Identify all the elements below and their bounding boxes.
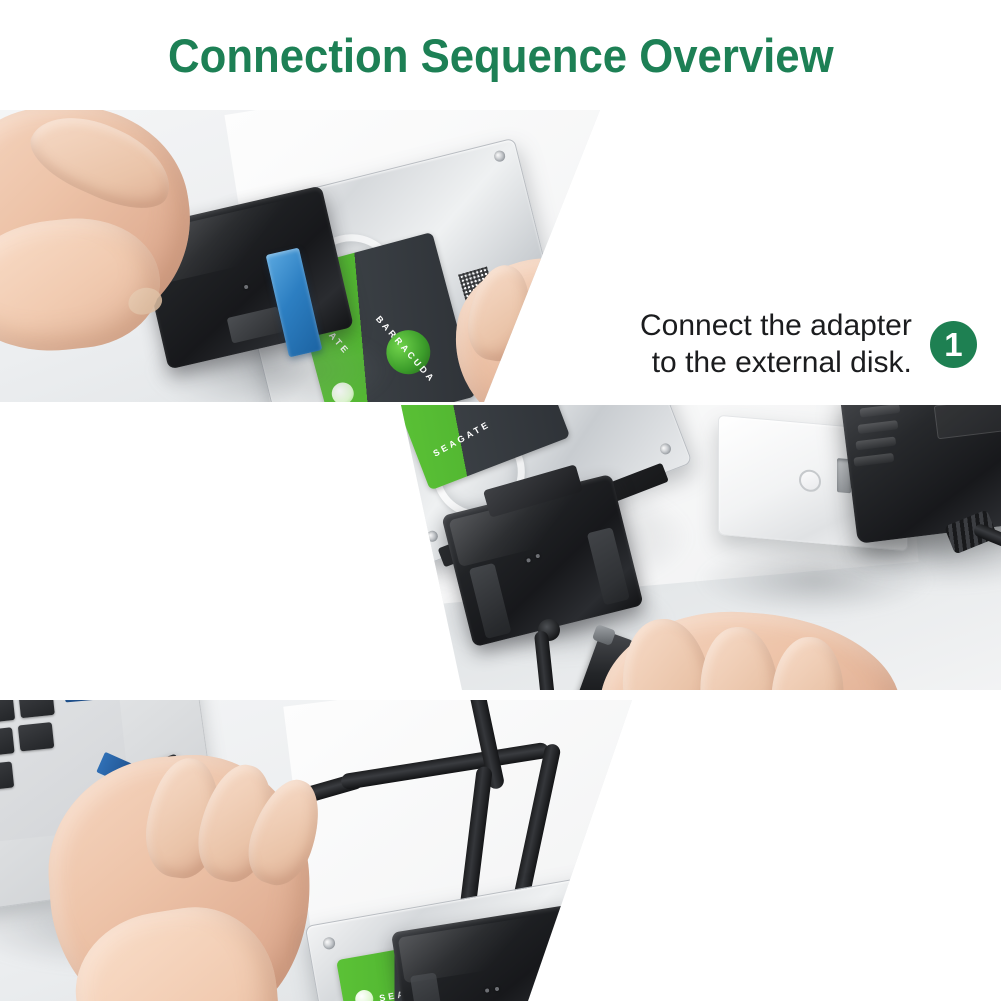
- step-1-line-1: Connect the adapter: [640, 308, 912, 345]
- hub-power-button[interactable]: [799, 469, 821, 493]
- step-1-instruction: Connect the adapter to the external disk…: [640, 308, 977, 381]
- adapter-side-facet: [227, 306, 284, 343]
- brick-fin: [855, 437, 896, 451]
- adapter-side-facet: [469, 563, 512, 639]
- brick-fin: [853, 453, 894, 467]
- photo-step-2: SEAGATE: [0, 405, 1001, 690]
- brick-label-plate: [934, 405, 1001, 439]
- hdd-brand-text: SEAGATE: [431, 419, 492, 459]
- keyboard-key[interactable]: [18, 700, 55, 718]
- keyboard-key[interactable]: [0, 727, 15, 756]
- hdd-screw: [658, 442, 672, 456]
- seagate-logo-icon: [354, 989, 375, 1001]
- title-bar: Connection Sequence Overview: [0, 0, 1001, 110]
- step-1-line-2: to the external disk.: [640, 345, 912, 382]
- step-1-number-badge: 1: [930, 321, 977, 368]
- adapter-led-indicator: [485, 988, 490, 993]
- adapter-led-indicator-2: [495, 987, 500, 992]
- hdd-screw: [322, 936, 336, 950]
- keyboard-key[interactable]: [0, 761, 14, 790]
- adapter-led-indicator: [526, 558, 531, 563]
- adapter-led-indicator-2: [535, 554, 540, 559]
- step-1-text: Connect the adapter to the external disk…: [640, 308, 912, 381]
- brick-fin: [859, 405, 900, 418]
- step-2-photo-panel: SEAGATE: [0, 405, 1001, 690]
- step-1-photo-panel: SEAGATE BARRACUDA Connect the adapter t: [0, 110, 1001, 402]
- keyboard-key[interactable]: [18, 722, 55, 751]
- photo-step-3: SEAGATE: [0, 700, 1001, 1001]
- adapter-side-facet-2: [587, 527, 630, 605]
- step-3-photo-panel: SEAGATE Plug in the USB porton PC/laptop…: [0, 700, 1001, 1001]
- brick-fin: [857, 420, 898, 434]
- adapter-led-indicator: [244, 285, 249, 290]
- page-title: Connection Sequence Overview: [168, 28, 834, 83]
- keyboard-key[interactable]: [0, 700, 15, 723]
- hdd-screw: [493, 149, 506, 162]
- hdd-screw: [425, 529, 439, 543]
